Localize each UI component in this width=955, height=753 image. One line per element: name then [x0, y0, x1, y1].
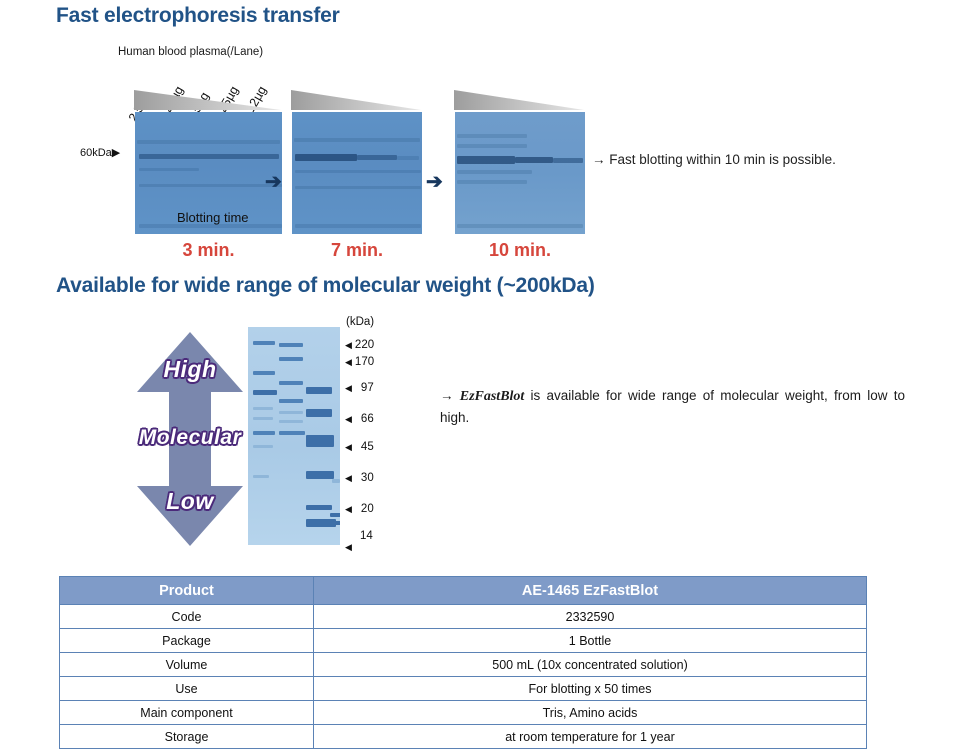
marker-triangle-icon: ◀ — [345, 340, 352, 350]
product-specification-table: Product AE-1465 EzFastBlot Code 2332590 … — [59, 576, 867, 749]
row-label: Storage — [60, 725, 314, 749]
marker-triangle-icon: ◀ — [345, 542, 352, 552]
flow-arrow-1: ➔ — [265, 172, 282, 192]
ladder-marker-45: ◀45 — [345, 441, 374, 453]
table-row: Volume 500 mL (10x concentrated solution… — [60, 653, 867, 677]
flow-arrow-2: ➔ — [426, 172, 443, 192]
transfer-note: → Fast blotting within 10 min is possibl… — [592, 152, 836, 167]
table-header-product: Product — [60, 577, 314, 605]
ladder-marker-20: ◀20 — [345, 503, 374, 515]
marker-triangle-icon: ◀ — [345, 383, 352, 393]
protein-ladder-gel-image — [248, 327, 340, 545]
ladder-kda-header: (kDa) — [346, 316, 374, 328]
time-label-10min: 10 min. — [455, 240, 585, 261]
ladder-marker-bottom: ◀ — [345, 541, 355, 553]
section-heading-molecular-weight: Available for wide range of molecular we… — [56, 274, 595, 298]
table-row: Use For blotting x 50 times — [60, 677, 867, 701]
mw-note-product-name: EzFastBlot — [460, 389, 525, 404]
row-value: Tris, Amino acids — [314, 701, 867, 725]
table-header-product-name: AE-1465 EzFastBlot — [314, 577, 867, 605]
marker-value: 30 — [361, 472, 374, 484]
marker-value: 97 — [361, 382, 374, 394]
row-label: Code — [60, 605, 314, 629]
ladder-marker-170: ◀170 — [345, 356, 374, 368]
row-label: Volume — [60, 653, 314, 677]
marker-triangle-icon: ◀ — [345, 473, 352, 483]
ladder-marker-30: ◀30 — [345, 472, 374, 484]
ladder-marker-14: 14 — [360, 530, 373, 542]
gel-image-7min — [292, 112, 422, 234]
row-value: 1 Bottle — [314, 629, 867, 653]
table-header-row: Product AE-1465 EzFastBlot — [60, 577, 867, 605]
row-label: Package — [60, 629, 314, 653]
ladder-marker-66: ◀66 — [345, 413, 374, 425]
kda-60-marker: 60kDa▶ — [80, 146, 120, 159]
kda-60-arrow-icon: ▶ — [112, 147, 120, 159]
gel-image-10min — [455, 112, 585, 234]
marker-value: 170 — [355, 356, 374, 368]
kda-60-text: 60kDa — [80, 147, 112, 159]
row-value: 2332590 — [314, 605, 867, 629]
marker-triangle-icon: ◀ — [345, 442, 352, 452]
gel-image-3min: Blotting time — [135, 112, 282, 234]
row-value: For blotting x 50 times — [314, 677, 867, 701]
marker-value: 45 — [361, 441, 374, 453]
blotting-time-label: Blotting time — [177, 210, 249, 225]
ladder-marker-220: ◀220 — [345, 339, 374, 351]
marker-value: 66 — [361, 413, 374, 425]
gradient-wedge-1 — [134, 90, 281, 112]
table-row: Storage at room temperature for 1 year — [60, 725, 867, 749]
marker-value: 14 — [360, 530, 373, 542]
mw-note-prefix: → — [440, 388, 460, 403]
marker-value: 20 — [361, 503, 374, 515]
row-label: Use — [60, 677, 314, 701]
marker-triangle-icon: ◀ — [345, 357, 352, 367]
plasma-caption: Human blood plasma(/Lane) — [118, 46, 263, 58]
row-value: at room temperature for 1 year — [314, 725, 867, 749]
mw-word-low: Low — [133, 488, 247, 515]
time-label-7min: 7 min. — [292, 240, 422, 261]
marker-triangle-icon: ◀ — [345, 414, 352, 424]
marker-value: 220 — [355, 339, 374, 351]
row-label: Main component — [60, 701, 314, 725]
ladder-marker-97: ◀97 — [345, 382, 374, 394]
row-value: 500 mL (10x concentrated solution) — [314, 653, 867, 677]
time-label-3min: 3 min. — [135, 240, 282, 261]
molecular-weight-arrow-icon: High Molecular Low — [133, 330, 247, 548]
gradient-wedge-2 — [291, 90, 421, 112]
mw-word-high: High — [133, 356, 247, 383]
section-heading-fast-transfer: Fast electrophoresis transfer — [56, 4, 340, 28]
marker-triangle-icon: ◀ — [345, 504, 352, 514]
product-info-page: Fast electrophoresis transfer Human bloo… — [0, 0, 955, 753]
table-row: Code 2332590 — [60, 605, 867, 629]
table-row: Main component Tris, Amino acids — [60, 701, 867, 725]
table-row: Package 1 Bottle — [60, 629, 867, 653]
gradient-wedge-3 — [454, 90, 584, 112]
molecular-weight-note: → EzFastBlot is available for wide range… — [440, 386, 905, 429]
mw-word-molecular: Molecular — [133, 426, 247, 450]
